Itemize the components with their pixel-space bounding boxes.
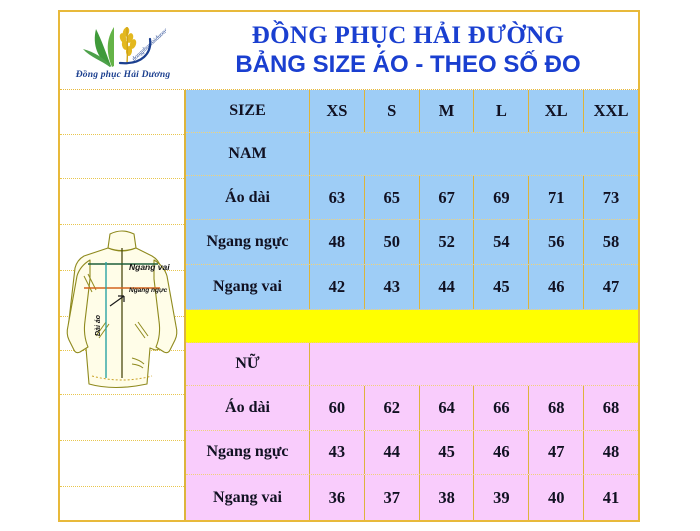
- cell-value: 50: [365, 220, 420, 264]
- cell-value: 48: [310, 220, 365, 264]
- table-row: Áo dài 60 62 64 66 68 68: [186, 386, 638, 431]
- header-band: dongphuchaiduong Đồng phục Hải Dương ĐỒN…: [60, 12, 638, 90]
- cell-value: 42: [310, 265, 365, 309]
- title-block: ĐỒNG PHỤC HẢI ĐƯỜNG BẢNG SIZE ÁO - THEO …: [186, 12, 638, 89]
- cell-value: 37: [365, 475, 420, 520]
- cell-value: 58: [584, 220, 638, 264]
- row-label: Áo dài: [186, 176, 310, 220]
- chart-sheet: dongphuchaiduong Đồng phục Hải Dương ĐỒN…: [58, 10, 640, 522]
- cell-value: 45: [420, 431, 475, 475]
- cell-value: 66: [474, 386, 529, 430]
- group-label-nam: NAM: [186, 133, 310, 175]
- group-empty-span: [310, 133, 638, 175]
- header-size-s: S: [365, 90, 420, 132]
- row-label: Áo dài: [186, 386, 310, 430]
- brand-logo: dongphuchaiduong Đồng phục Hải Dương: [60, 12, 186, 89]
- table-header-row: SIZE XS S M L XL XXL: [186, 90, 638, 133]
- table-row: Ngang ngực 43 44 45 46 47 48: [186, 431, 638, 476]
- cell-value: 60: [310, 386, 365, 430]
- brand-title: ĐỒNG PHỤC HẢI ĐƯỜNG: [252, 23, 564, 50]
- cell-value: 68: [529, 386, 584, 430]
- grid-rule: [60, 134, 184, 135]
- row-label: Ngang vai: [186, 475, 310, 520]
- illustration-column: Ngang vai Ngang ngực Dài áo: [60, 90, 186, 520]
- cell-value: 62: [365, 386, 420, 430]
- label-chest: Ngang ngực: [129, 287, 168, 294]
- separator-span: [186, 310, 638, 342]
- header-size-xxl: XXL: [584, 90, 638, 132]
- cell-value: 38: [420, 475, 475, 520]
- cell-value: 48: [584, 431, 638, 475]
- table-row: Ngang vai 36 37 38 39 40 41: [186, 475, 638, 520]
- group-header-nam: NAM: [186, 133, 638, 176]
- cell-value: 44: [420, 265, 475, 309]
- chart-body: Ngang vai Ngang ngực Dài áo SIZE XS S M: [60, 90, 638, 520]
- cell-value: 43: [365, 265, 420, 309]
- header-size-label: SIZE: [186, 90, 310, 132]
- row-label: Ngang ngực: [186, 431, 310, 475]
- cell-value: 46: [474, 431, 529, 475]
- cell-value: 44: [365, 431, 420, 475]
- chart-title-wrap: BẢNG SIZE ÁO - THEO SỐ ĐO: [235, 52, 580, 78]
- cell-value: 54: [474, 220, 529, 264]
- header-size-xs: XS: [310, 90, 365, 132]
- svg-text:dongphuchaiduong: dongphuchaiduong: [131, 27, 166, 62]
- grid-rule: [60, 486, 184, 487]
- header-size-m: M: [420, 90, 475, 132]
- cell-value: 64: [420, 386, 475, 430]
- label-shoulder: Ngang vai: [129, 262, 170, 272]
- header-size-l: L: [474, 90, 529, 132]
- cell-value: 39: [474, 475, 529, 520]
- group-header-nu: NỮ: [186, 343, 638, 386]
- cell-value: 69: [474, 176, 529, 220]
- jacket-diagram-icon: Ngang vai Ngang ngực Dài áo: [62, 218, 182, 398]
- size-table: SIZE XS S M L XL XXL NAM Áo dài 63: [186, 90, 638, 520]
- cell-value: 45: [474, 265, 529, 309]
- header-size-xl: XL: [529, 90, 584, 132]
- cell-value: 67: [420, 176, 475, 220]
- cell-value: 65: [365, 176, 420, 220]
- cell-value: 56: [529, 220, 584, 264]
- grid-rule: [60, 178, 184, 179]
- rice-stalk-logo-icon: dongphuchaiduong: [80, 23, 166, 69]
- group-separator-row: [186, 310, 638, 343]
- table-row: Ngang ngực 48 50 52 54 56 58: [186, 220, 638, 265]
- group-label-nu: NỮ: [186, 343, 310, 385]
- cell-value: 46: [529, 265, 584, 309]
- label-length: Dài áo: [95, 314, 102, 336]
- size-chart-page: dongphuchaiduong Đồng phục Hải Dương ĐỒN…: [0, 0, 700, 531]
- cell-value: 36: [310, 475, 365, 520]
- cell-value: 68: [584, 386, 638, 430]
- row-label: Ngang ngực: [186, 220, 310, 264]
- cell-value: 52: [420, 220, 475, 264]
- cell-value: 63: [310, 176, 365, 220]
- cell-value: 73: [584, 176, 638, 220]
- logo-caption: Đồng phục Hải Dương: [76, 70, 171, 80]
- cell-value: 47: [529, 431, 584, 475]
- table-row: Áo dài 63 65 67 69 71 73: [186, 176, 638, 221]
- spellcheck-wavy-underline: [383, 74, 441, 79]
- cell-value: 41: [584, 475, 638, 520]
- group-empty-span: [310, 343, 638, 385]
- cell-value: 40: [529, 475, 584, 520]
- cell-value: 43: [310, 431, 365, 475]
- grid-rule: [60, 440, 184, 441]
- row-label: Ngang vai: [186, 265, 310, 309]
- cell-value: 71: [529, 176, 584, 220]
- cell-value: 47: [584, 265, 638, 309]
- table-row: Ngang vai 42 43 44 45 46 47: [186, 265, 638, 310]
